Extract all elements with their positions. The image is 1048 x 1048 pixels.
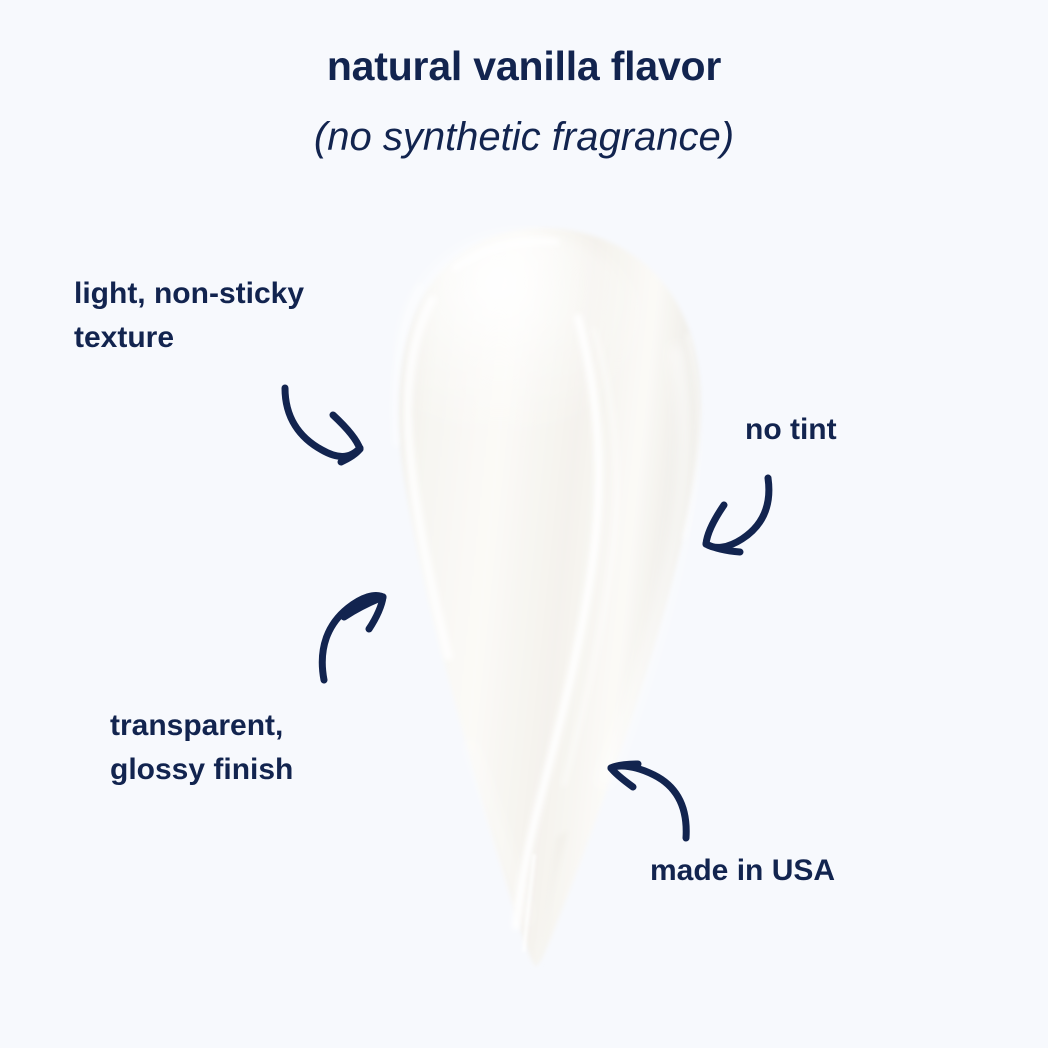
callout-label-made-in-usa: made in USA bbox=[650, 849, 950, 893]
arrow-down-right-icon bbox=[285, 388, 360, 462]
callout-label-glossy: transparent, glossy finish bbox=[110, 704, 440, 791]
arrow-down-left-icon bbox=[706, 478, 769, 552]
arrow-up-right-icon bbox=[322, 595, 383, 680]
arrow-up-left-icon bbox=[611, 764, 686, 838]
callout-label-texture: light, non-sticky texture bbox=[74, 272, 414, 359]
product-feature-callout-graphic: natural vanilla flavor (no synthetic fra… bbox=[0, 0, 1048, 1048]
callout-label-tint: no tint bbox=[745, 408, 985, 452]
